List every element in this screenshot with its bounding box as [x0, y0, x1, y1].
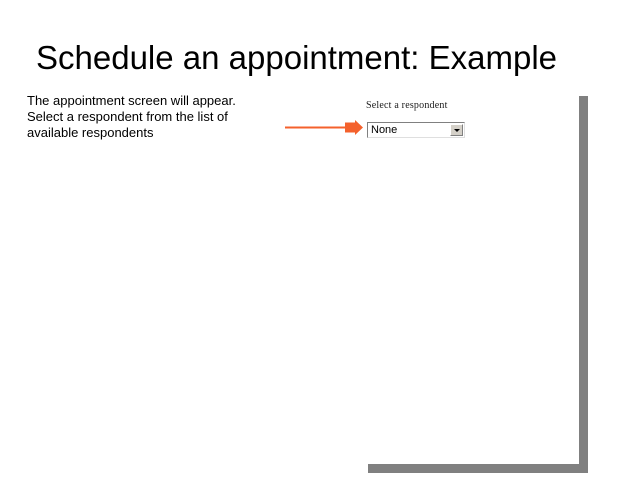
chevron-down-icon[interactable]: [450, 124, 463, 136]
slide-body-text: The appointment screen will appear. Sele…: [27, 93, 252, 141]
arrow-right-icon: [283, 119, 367, 136]
respondent-dropdown[interactable]: None: [367, 122, 465, 138]
embedded-screenshot: [360, 92, 588, 472]
respondent-dropdown-value: None: [371, 124, 397, 137]
select-respondent-label: Select a respondent: [366, 100, 448, 111]
caret-glyph: [454, 129, 460, 132]
page-title: Schedule an appointment: Example: [36, 38, 616, 78]
